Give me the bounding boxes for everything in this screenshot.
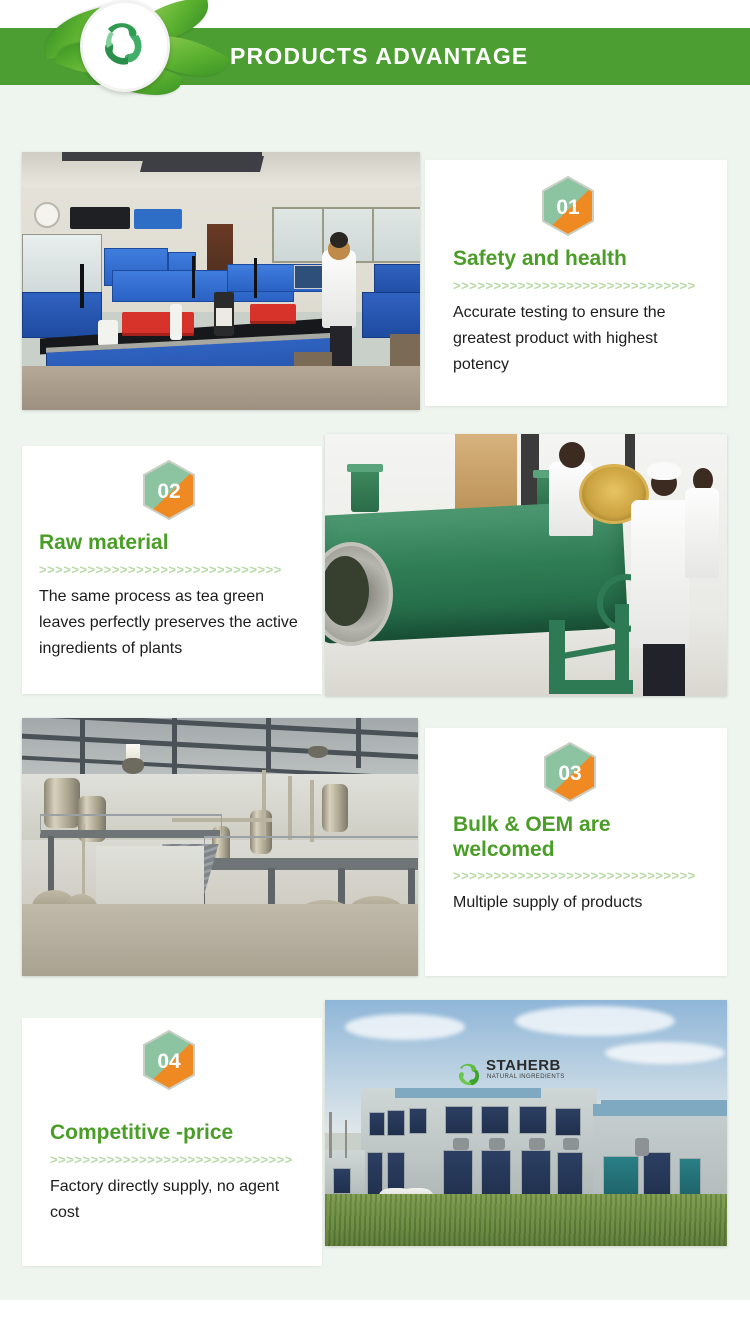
chevron-divider: >>>>>>>>>>>>>>>>>>>>>>>>>>>>>> — [453, 278, 711, 293]
card-title: Safety and health — [453, 246, 715, 271]
card-body: Accurate testing to ensure the greatest … — [453, 300, 715, 378]
bottom-white-strip — [0, 1300, 750, 1326]
number-badge-04-icon: 04 — [142, 1030, 196, 1090]
advantage-row-2: 02 Raw material >>>>>>>>>>>>>>>>>>>>>>>>… — [0, 434, 750, 700]
advantage-row-4: 04 Competitive -price >>>>>>>>>>>>>>>>>>… — [0, 1000, 750, 1266]
factory-building-photo: STAHERB NATURAL INGREDIENTS — [325, 1000, 727, 1246]
card-title: Competitive -price — [50, 1120, 314, 1145]
chevron-divider: >>>>>>>>>>>>>>>>>>>>>>>>>>>>>> — [50, 1152, 308, 1167]
swirl-recycle-icon — [88, 9, 156, 77]
badge-number: 02 — [157, 480, 180, 503]
chevron-divider: >>>>>>>>>>>>>>>>>>>>>>>>>>>>>> — [39, 562, 297, 577]
advantage-card-1: 01 Safety and health >>>>>>>>>>>>>>>>>>>… — [425, 160, 727, 406]
card-body: Multiple supply of products — [453, 890, 703, 916]
number-badge-01-icon: 01 — [541, 176, 595, 236]
laboratory-photo — [22, 152, 420, 410]
badge-number: 01 — [556, 196, 580, 219]
building-sign-subtitle: NATURAL INGREDIENTS — [487, 1074, 565, 1080]
building-roof-sign: STAHERB NATURAL INGREDIENTS — [453, 1056, 593, 1090]
staherb-swirl-icon — [453, 1058, 483, 1086]
card-body: Factory directly supply, no agent cost — [50, 1174, 300, 1226]
advantage-card-2: 02 Raw material >>>>>>>>>>>>>>>>>>>>>>>>… — [22, 446, 322, 694]
chevron-divider: >>>>>>>>>>>>>>>>>>>>>>>>>>>>>> — [453, 868, 711, 883]
company-logo — [36, 0, 226, 102]
page-title: PRODUCTS ADVANTAGE — [230, 28, 528, 85]
badge-number: 03 — [558, 762, 581, 785]
card-body: The same process as tea green leaves per… — [39, 584, 311, 662]
building-sign-name: STAHERB — [486, 1057, 561, 1074]
number-badge-02-icon: 02 — [142, 460, 196, 520]
number-badge-03-icon: 03 — [543, 742, 597, 802]
extraction-workshop-photo — [22, 718, 418, 976]
advantage-row-3: 03 Bulk & OEM are welcomed >>>>>>>>>>>>>… — [0, 718, 750, 984]
card-title: Bulk & OEM are welcomed — [453, 812, 653, 862]
badge-number: 04 — [157, 1050, 181, 1073]
tea-roasting-machine-photo — [325, 434, 727, 696]
advantage-card-3: 03 Bulk & OEM are welcomed >>>>>>>>>>>>>… — [425, 728, 727, 976]
product-advantage-page: PRODUCTS ADVANTAGE — [0, 0, 750, 1326]
advantage-card-4: 04 Competitive -price >>>>>>>>>>>>>>>>>>… — [22, 1018, 322, 1266]
advantage-row-1: 01 Safety and health >>>>>>>>>>>>>>>>>>>… — [0, 152, 750, 414]
card-title: Raw material — [39, 530, 307, 555]
